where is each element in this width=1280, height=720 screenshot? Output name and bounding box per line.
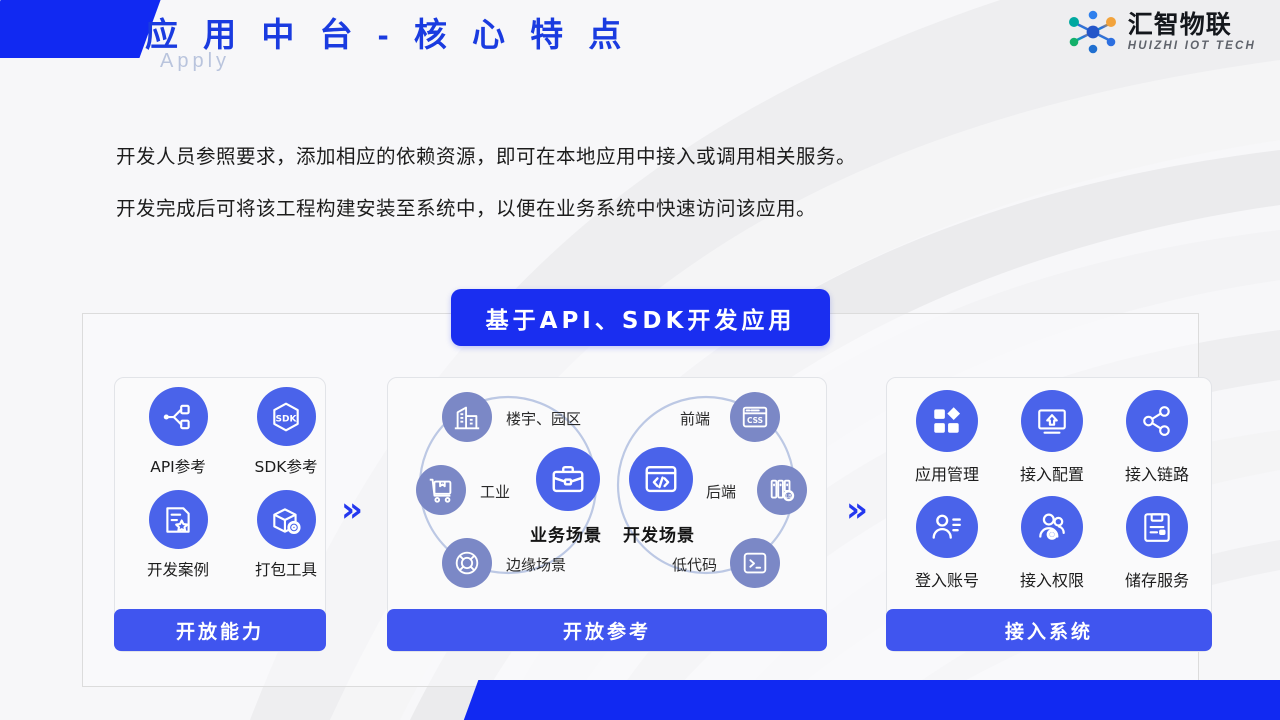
tile-dev-case[interactable]: 开发案例 bbox=[132, 490, 224, 580]
tile-label: 储存服务 bbox=[1111, 567, 1203, 591]
molecule-network-icon bbox=[1065, 10, 1121, 54]
tile-label: 打包工具 bbox=[240, 558, 332, 580]
tile-packaging-tool[interactable]: 打包工具 bbox=[240, 490, 332, 580]
page-title: 应 用 中 台 - 核 心 特 点 bbox=[145, 8, 629, 56]
svg-text:CSS: CSS bbox=[747, 416, 763, 425]
header-accent-shape bbox=[0, 0, 161, 58]
grid-apps-icon bbox=[916, 390, 978, 452]
diagram-banner: 基于API、SDK开发应用 bbox=[451, 289, 830, 346]
user-id-icon bbox=[916, 496, 978, 558]
tile-sdk-reference[interactable]: SDK SDK参考 bbox=[240, 387, 332, 477]
tile-login-account[interactable]: 登入账号 bbox=[901, 496, 993, 591]
sdk-cube-icon: SDK bbox=[257, 387, 316, 446]
brand-logo: 汇智物联 HUIZHI IOT TECH bbox=[1065, 10, 1256, 54]
share-nodes-icon bbox=[1126, 390, 1188, 452]
tile-label: 接入链路 bbox=[1111, 461, 1203, 485]
node-backend[interactable]: LB bbox=[757, 465, 807, 515]
tile-label: 接入权限 bbox=[1006, 567, 1098, 591]
node-label-lowcode: 低代码 bbox=[672, 554, 717, 575]
logo-text-en: HUIZHI IOT TECH bbox=[1128, 40, 1256, 52]
hub-label-business: 业务场景 bbox=[530, 521, 602, 546]
chevron-right-icon-2: » bbox=[846, 493, 868, 527]
tile-label: 接入配置 bbox=[1006, 461, 1098, 485]
file-save-icon bbox=[1126, 496, 1188, 558]
tile-access-link[interactable]: 接入链路 bbox=[1111, 390, 1203, 485]
tile-label: API参考 bbox=[132, 455, 224, 477]
tile-label: 登入账号 bbox=[901, 567, 993, 591]
node-frontend[interactable]: CSS bbox=[730, 392, 780, 442]
node-label-industry: 工业 bbox=[480, 481, 510, 502]
hub-business-scenario[interactable] bbox=[536, 447, 600, 511]
footer-accent-shape bbox=[462, 680, 1280, 720]
node-building[interactable] bbox=[442, 392, 492, 442]
hub-label-development: 开发场景 bbox=[623, 521, 695, 546]
logo-text-cn: 汇智物联 bbox=[1128, 12, 1256, 38]
node-lowcode[interactable] bbox=[730, 538, 780, 588]
hub-development-scenario[interactable] bbox=[629, 447, 693, 511]
access-system-button[interactable]: 接入系统 bbox=[886, 609, 1212, 651]
slide-canvas: 应 用 中 台 - 核 心 特 点 Apply bbox=[0, 0, 1280, 720]
user-gear-icon bbox=[1021, 496, 1083, 558]
svg-text:SDK: SDK bbox=[276, 414, 298, 424]
page-subtitle: Apply bbox=[160, 50, 230, 73]
tile-access-permission[interactable]: 接入权限 bbox=[1006, 496, 1098, 591]
tile-storage-service[interactable]: 储存服务 bbox=[1111, 496, 1203, 591]
node-label-building: 楼宇、园区 bbox=[506, 408, 581, 429]
node-label-edge: 边缘场景 bbox=[506, 554, 566, 575]
tile-label: 应用管理 bbox=[901, 461, 993, 485]
chevron-right-icon-1: » bbox=[341, 493, 363, 527]
tile-app-management[interactable]: 应用管理 bbox=[901, 390, 993, 485]
monitor-upload-icon bbox=[1021, 390, 1083, 452]
open-capability-button[interactable]: 开放能力 bbox=[114, 609, 326, 651]
node-industry[interactable] bbox=[416, 465, 466, 515]
tile-api-reference[interactable]: API参考 bbox=[132, 387, 224, 477]
open-reference-button[interactable]: 开放参考 bbox=[387, 609, 827, 651]
intro-line-1: 开发人员参照要求，添加相应的依赖资源，即可在本地应用中接入或调用相关服务。 bbox=[116, 140, 856, 169]
node-edge-scenario[interactable] bbox=[442, 538, 492, 588]
node-label-backend: 后端 bbox=[706, 481, 736, 502]
api-branch-icon bbox=[149, 387, 208, 446]
document-star-icon bbox=[149, 490, 208, 549]
tile-access-config[interactable]: 接入配置 bbox=[1006, 390, 1098, 485]
node-label-frontend: 前端 bbox=[680, 408, 710, 429]
svg-text:LB: LB bbox=[786, 494, 792, 500]
tile-label: 开发案例 bbox=[132, 558, 224, 580]
tile-label: SDK参考 bbox=[240, 455, 332, 477]
intro-line-2: 开发完成后可将该工程构建安装至系统中，以便在业务系统中快速访问该应用。 bbox=[116, 192, 816, 221]
package-gear-icon bbox=[257, 490, 316, 549]
